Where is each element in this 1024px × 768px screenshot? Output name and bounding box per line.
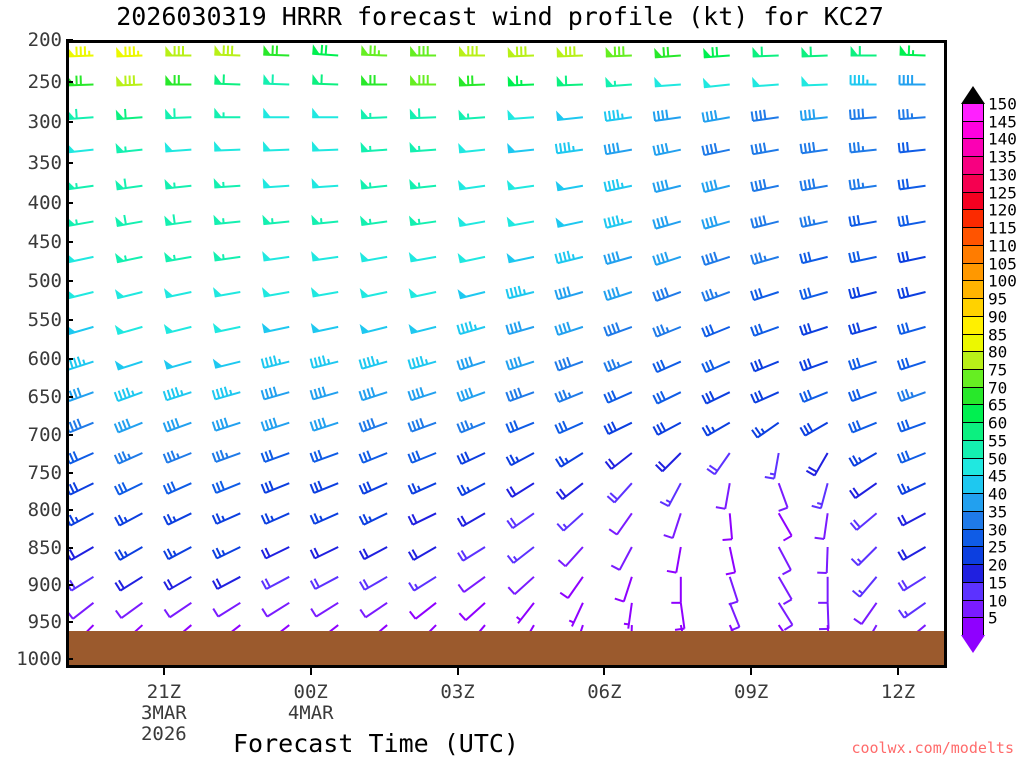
wind-barb xyxy=(604,391,632,403)
wind-barb xyxy=(262,577,289,589)
wind-barb xyxy=(779,603,793,630)
wind-barb xyxy=(556,218,583,227)
colorbar-swatch xyxy=(962,564,984,583)
wind-barb xyxy=(605,143,632,155)
colorbar-label: 95 xyxy=(988,290,1007,309)
wind-barb-svg xyxy=(69,43,944,665)
wind-barb xyxy=(457,321,485,334)
wind-barb xyxy=(459,46,485,56)
pressure-tick-label: 950 xyxy=(28,611,62,633)
pressure-tick-label: 1000 xyxy=(16,648,62,670)
wind-barb xyxy=(702,143,729,155)
wind-barb xyxy=(459,75,485,85)
colorbar-label: 85 xyxy=(988,325,1007,344)
colorbar-swatch xyxy=(962,138,984,157)
wind-barb xyxy=(675,603,684,630)
wind-barb xyxy=(116,603,143,618)
wind-barb xyxy=(507,453,534,465)
wind-barb xyxy=(850,142,877,152)
colorbar-label: 130 xyxy=(988,165,1017,184)
pressure-tick xyxy=(66,319,73,321)
wind-barb xyxy=(624,603,632,629)
colorbar-label: 75 xyxy=(988,361,1007,380)
wind-barb xyxy=(409,142,436,151)
wind-barb xyxy=(69,143,93,152)
wind-barb xyxy=(457,357,485,370)
wind-barb xyxy=(555,251,583,263)
wind-barb xyxy=(409,547,436,560)
wind-barb xyxy=(604,251,632,264)
wind-barb xyxy=(899,142,926,152)
wind-barb xyxy=(898,451,926,463)
wind-barb xyxy=(557,46,583,56)
wind-barb xyxy=(555,390,583,402)
wind-barb xyxy=(408,387,436,400)
wind-barb xyxy=(115,179,142,190)
wind-barb xyxy=(312,74,338,84)
wind-barb xyxy=(116,109,143,119)
wind-barb xyxy=(458,289,486,298)
wind-barb xyxy=(849,215,876,226)
wind-barb xyxy=(213,418,241,431)
wind-barb xyxy=(312,178,339,187)
wind-barb xyxy=(165,108,191,118)
wind-barb xyxy=(164,603,191,618)
wind-barb xyxy=(164,451,192,463)
wind-barb xyxy=(213,287,240,296)
wind-barb xyxy=(653,252,681,265)
wind-barb xyxy=(457,388,485,401)
wind-barb xyxy=(606,453,632,469)
wind-barb xyxy=(458,180,485,189)
wind-barb xyxy=(569,603,583,627)
wind-barb xyxy=(165,179,192,188)
wind-barb xyxy=(69,217,93,226)
pressure-tick-label: 550 xyxy=(28,309,62,331)
colorbar-label: 140 xyxy=(988,130,1017,149)
wind-barb xyxy=(410,75,436,85)
wind-barb xyxy=(115,253,142,262)
wind-barb xyxy=(507,143,534,152)
wind-barb xyxy=(409,179,436,188)
wind-barb-field xyxy=(69,43,944,665)
wind-barb xyxy=(115,547,142,560)
colorbar-label: 5 xyxy=(988,609,998,628)
wind-barb xyxy=(751,253,779,264)
time-tick-year: 2026 xyxy=(141,723,187,745)
pressure-tick xyxy=(66,621,73,623)
wind-barb xyxy=(800,323,828,335)
wind-barb xyxy=(604,179,631,191)
colorbar-label: 120 xyxy=(988,201,1017,220)
wind-barb xyxy=(900,45,926,55)
wind-barb xyxy=(702,325,730,337)
wind-barb xyxy=(115,513,142,525)
colorbar-swatch xyxy=(962,529,984,548)
wind-barb xyxy=(702,360,730,372)
colorbar-label: 110 xyxy=(988,236,1017,255)
wind-barb xyxy=(115,451,143,463)
colorbar-label: 20 xyxy=(988,556,1007,575)
wind-barb xyxy=(604,323,632,336)
wind-barb xyxy=(818,577,828,603)
wind-barb xyxy=(557,76,583,86)
terrain-fill xyxy=(69,631,944,665)
wind-barb xyxy=(702,289,730,301)
time-tick-label: 00Z xyxy=(294,681,328,703)
colorbar-swatch xyxy=(962,387,984,406)
colorbar-swatch xyxy=(962,209,984,228)
pressure-tick xyxy=(66,509,73,511)
wind-barb xyxy=(213,603,240,617)
wind-barb xyxy=(164,324,192,333)
colorbar-label: 35 xyxy=(988,502,1007,521)
wind-barb xyxy=(165,142,192,151)
wind-barb xyxy=(851,75,877,85)
wind-barb xyxy=(115,388,143,401)
wind-barb xyxy=(716,483,730,509)
wind-barb xyxy=(899,603,926,618)
wind-barb xyxy=(213,323,240,332)
wind-barb xyxy=(311,387,339,400)
colorbar-label: 150 xyxy=(988,95,1017,114)
colorbar-swatch xyxy=(962,440,984,459)
wind-barb xyxy=(459,603,485,620)
wind-barb xyxy=(779,513,792,540)
colorbar-label: 40 xyxy=(988,485,1007,504)
wind-barb xyxy=(671,577,681,603)
wind-barb xyxy=(765,453,779,479)
colorbar-swatch xyxy=(962,227,984,246)
wind-barb xyxy=(653,360,681,372)
wind-barb xyxy=(360,513,388,524)
wind-barb xyxy=(653,143,680,155)
wind-barb xyxy=(606,46,632,56)
pressure-tick-label: 500 xyxy=(28,270,62,292)
wind-barb xyxy=(667,547,681,573)
wind-barb xyxy=(311,215,338,224)
wind-barb xyxy=(507,180,534,189)
colorbar-label: 145 xyxy=(988,112,1017,131)
wind-barb xyxy=(849,420,877,432)
wind-barb xyxy=(800,179,827,191)
colorbar-swatch xyxy=(962,546,984,565)
wind-barb xyxy=(311,481,339,493)
pressure-tick xyxy=(66,547,73,549)
wind-barb xyxy=(115,361,143,370)
wind-barb xyxy=(311,577,338,589)
wind-barb xyxy=(801,142,828,153)
wind-barb xyxy=(801,76,827,85)
wind-barb xyxy=(800,359,828,371)
colorbar-swatch xyxy=(962,245,984,264)
pressure-tick xyxy=(66,162,73,164)
wind-barb xyxy=(607,483,631,502)
colorbar-swatch xyxy=(962,316,984,335)
wind-barb xyxy=(507,253,534,262)
wind-barb xyxy=(508,76,534,86)
wind-barb xyxy=(707,453,730,474)
wind-barb xyxy=(458,483,485,495)
colorbar-label: 15 xyxy=(988,573,1007,592)
wind-barb xyxy=(557,513,583,530)
colorbar-swatch xyxy=(962,174,984,193)
wind-barb xyxy=(653,216,681,229)
wind-barb xyxy=(409,216,436,225)
wind-barb xyxy=(115,482,143,494)
wind-barb xyxy=(164,577,191,590)
wind-barb xyxy=(751,324,779,336)
wind-barb xyxy=(359,451,387,463)
wind-barb xyxy=(311,356,339,368)
wind-barb xyxy=(69,180,93,189)
wind-barb xyxy=(556,453,583,467)
wind-barb xyxy=(69,451,93,463)
colorbar-over-arrow xyxy=(961,86,985,104)
wind-barb xyxy=(312,141,338,150)
wind-barb xyxy=(408,483,436,494)
colorbar-swatch xyxy=(962,298,984,317)
wind-barb xyxy=(702,391,730,403)
wind-barb xyxy=(752,110,779,121)
wind-barb xyxy=(800,252,828,263)
colorbar-swatch xyxy=(962,351,984,370)
wind-barb xyxy=(311,323,338,332)
wind-barb xyxy=(361,75,387,85)
wind-barb xyxy=(214,108,240,118)
wind-barb xyxy=(605,77,632,86)
pressure-tick-label: 450 xyxy=(28,231,62,253)
colorbar-label: 25 xyxy=(988,538,1007,557)
wind-barb xyxy=(729,577,738,605)
wind-barb xyxy=(361,109,387,118)
pressure-tick-label: 200 xyxy=(28,29,62,51)
pressure-tick-label: 250 xyxy=(28,71,62,93)
wind-barb xyxy=(263,141,289,150)
wind-barb xyxy=(164,482,192,494)
pressure-tick xyxy=(66,241,73,243)
wind-barb xyxy=(752,47,778,57)
time-tick xyxy=(603,668,605,675)
wind-barb xyxy=(851,513,877,530)
wind-barb xyxy=(360,577,387,590)
plot-frame xyxy=(66,40,947,668)
wind-barb xyxy=(213,215,240,224)
wind-barb xyxy=(555,421,583,433)
wind-barb xyxy=(262,356,290,368)
wind-barb xyxy=(849,323,877,334)
wind-barb xyxy=(615,577,632,602)
colorbar-label: 125 xyxy=(988,183,1017,202)
wind-barb xyxy=(507,483,534,497)
wind-barb xyxy=(604,215,632,227)
wind-barb xyxy=(507,110,534,119)
wind-barb xyxy=(899,109,926,119)
colorbar-swatch xyxy=(962,617,984,636)
time-tick xyxy=(457,668,459,675)
wind-barb xyxy=(263,74,289,84)
page-title: 2026030319 HRRR forecast wind profile (k… xyxy=(0,2,1000,31)
wind-barb xyxy=(898,483,926,494)
wind-barb xyxy=(458,513,485,526)
pressure-tick-label: 850 xyxy=(28,537,62,559)
wind-barb xyxy=(164,418,192,431)
colorbar-swatch xyxy=(962,422,984,441)
wind-barb xyxy=(361,142,388,151)
wind-barb xyxy=(263,45,289,55)
wind-barb xyxy=(116,46,142,56)
colorbar-swatch xyxy=(962,458,984,477)
pressure-tick xyxy=(66,39,73,41)
wind-barb xyxy=(653,288,681,301)
wind-barb xyxy=(507,513,534,528)
wind-barb xyxy=(115,577,142,591)
wind-barb xyxy=(408,356,436,369)
colorbar-swatch xyxy=(962,192,984,211)
wind-barb xyxy=(560,577,583,598)
wind-barb xyxy=(850,109,877,119)
wind-barb xyxy=(508,577,534,594)
time-tick xyxy=(163,668,165,675)
wind-barb xyxy=(609,513,632,534)
wind-barb xyxy=(801,47,827,57)
wind-barb xyxy=(69,603,93,619)
wind-barb xyxy=(806,453,827,476)
wind-barb xyxy=(555,322,583,335)
wind-barb xyxy=(214,178,241,187)
wind-barb xyxy=(409,288,436,297)
wind-barb xyxy=(854,603,877,624)
pressure-tick xyxy=(66,434,73,436)
wind-barb xyxy=(458,110,485,119)
wind-barb xyxy=(213,513,241,524)
wind-barb xyxy=(458,143,485,152)
colorbar-swatch xyxy=(962,475,984,494)
colorbar-swatch xyxy=(962,121,984,140)
wind-barb xyxy=(360,179,387,188)
wind-barb xyxy=(653,325,681,337)
wind-barb xyxy=(214,141,240,150)
wind-barb xyxy=(801,109,828,120)
wind-barb xyxy=(703,47,730,57)
wind-barb xyxy=(116,143,143,152)
wind-barb xyxy=(703,78,730,87)
wind-barb xyxy=(311,418,339,431)
wind-barb xyxy=(702,252,730,265)
wind-barb xyxy=(506,321,534,334)
wind-barb xyxy=(506,286,534,298)
wind-barb xyxy=(654,77,681,86)
wind-barb xyxy=(214,45,240,55)
wind-barb xyxy=(506,420,534,432)
wind-barb xyxy=(702,110,729,122)
wind-barb xyxy=(262,603,289,617)
wind-barb xyxy=(360,216,387,225)
pressure-tick-label: 350 xyxy=(28,152,62,174)
wind-barb xyxy=(800,288,828,299)
wind-barb xyxy=(779,483,788,511)
wind-barb xyxy=(556,111,583,120)
wind-barb xyxy=(69,253,93,262)
wind-barb xyxy=(654,47,681,57)
wind-barb xyxy=(360,603,387,618)
wind-barb xyxy=(312,44,338,55)
wind-barb xyxy=(116,75,142,85)
wind-barb xyxy=(660,483,681,506)
pressure-tick xyxy=(66,358,73,360)
wind-barb xyxy=(213,450,241,462)
colorbar-label: 90 xyxy=(988,307,1007,326)
time-tick-date: 3MAR xyxy=(141,702,187,724)
wind-barb xyxy=(262,418,290,431)
wind-barb xyxy=(898,215,925,226)
wind-barb xyxy=(555,287,583,300)
wind-barb xyxy=(800,390,828,402)
wind-barb xyxy=(604,359,632,371)
wind-barb xyxy=(458,217,485,226)
time-tick xyxy=(750,668,752,675)
wind-barb xyxy=(817,547,827,573)
wind-barb xyxy=(410,108,436,118)
wind-barb xyxy=(409,577,436,591)
wind-barb xyxy=(457,452,485,464)
wind-barb xyxy=(849,389,877,401)
time-tick-label: 06Z xyxy=(587,681,621,703)
wind-barb xyxy=(723,513,732,540)
wind-barb xyxy=(214,74,240,84)
wind-barb xyxy=(850,483,877,498)
pressure-tick xyxy=(66,584,73,586)
time-tick-label: 09Z xyxy=(734,681,768,703)
time-tick-label: 21Z xyxy=(147,681,181,703)
wind-barb xyxy=(213,387,241,400)
wind-barb xyxy=(517,603,534,623)
wind-barb xyxy=(849,287,877,298)
wind-barb xyxy=(213,359,241,368)
wind-barb xyxy=(410,46,436,56)
wind-barb xyxy=(664,513,681,538)
wind-barb xyxy=(164,288,191,297)
wind-barb xyxy=(115,289,143,298)
colorbar-swatch xyxy=(962,103,984,122)
pressure-tick-label: 300 xyxy=(28,111,62,133)
wind-barb xyxy=(408,451,436,463)
wind-barb xyxy=(360,324,388,333)
wind-barb xyxy=(507,217,534,226)
time-tick-date: 4MAR xyxy=(288,702,334,724)
colorbar-swatch xyxy=(962,582,984,601)
pressure-tick-label: 800 xyxy=(28,499,62,521)
wind-barb xyxy=(262,215,289,224)
wind-barb xyxy=(851,46,877,56)
wind-barb xyxy=(849,251,876,262)
wind-barb xyxy=(262,251,289,260)
wind-barb xyxy=(611,547,632,570)
wind-barb xyxy=(359,387,387,400)
wind-barb xyxy=(360,482,388,494)
wind-barb xyxy=(164,360,192,369)
watermark: coolwx.com/modelts xyxy=(851,739,1014,757)
colorbar-swatch xyxy=(962,600,984,619)
wind-barb xyxy=(458,253,485,262)
pressure-tick-label: 900 xyxy=(28,574,62,596)
wind-barb xyxy=(262,481,290,493)
wind-barb xyxy=(898,358,926,370)
colorbar-label: 100 xyxy=(988,272,1017,291)
pressure-tick xyxy=(66,121,73,123)
colorbar-swatch xyxy=(962,369,984,388)
wind-barb xyxy=(752,77,779,86)
